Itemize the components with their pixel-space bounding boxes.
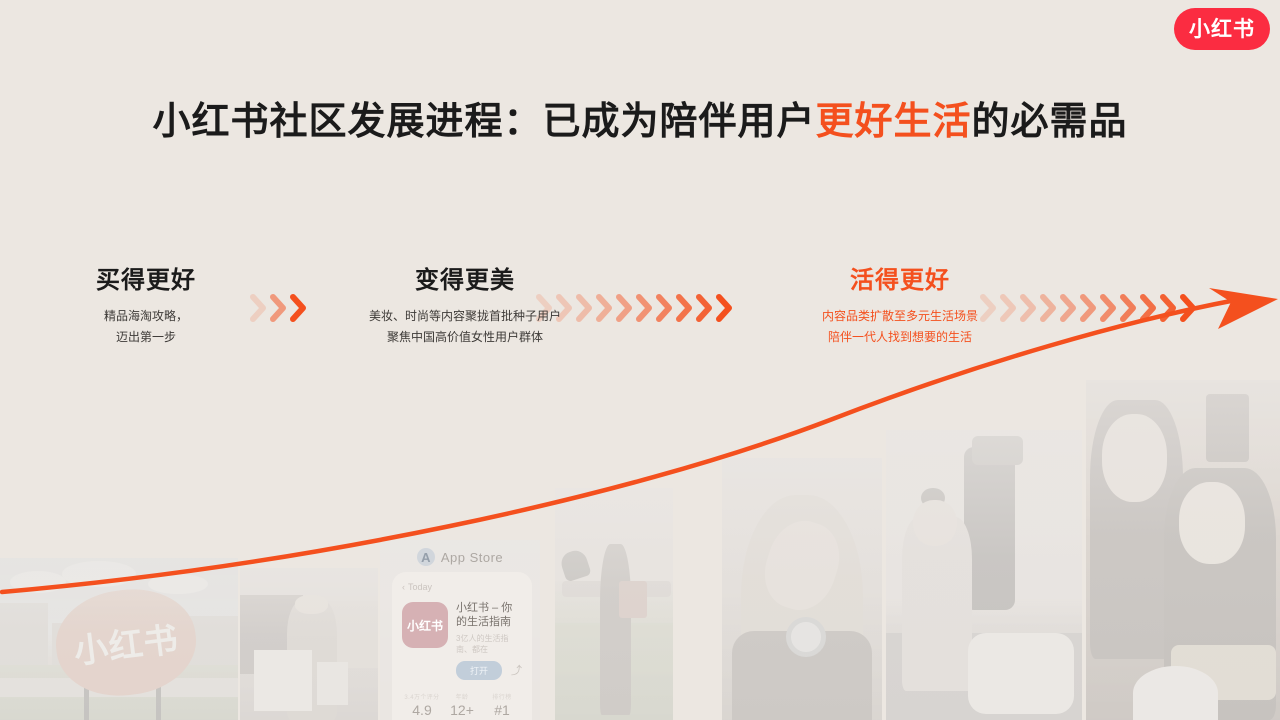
app-icon-text: 小红书	[407, 617, 443, 634]
photo-street-shopping	[240, 568, 378, 720]
chevron-right-icon	[1098, 293, 1120, 323]
app-store-label: App Store	[441, 550, 503, 565]
stage-2-title: 变得更美	[325, 268, 605, 294]
app-store-back-today[interactable]: ‹ Today	[402, 582, 522, 592]
app-stat-caption: 3.4万个评分	[402, 692, 442, 701]
chevron-right-icon	[1138, 293, 1160, 323]
app-stat-rank: 排行榜 #1 购物	[482, 692, 522, 720]
app-store-back-label: Today	[408, 582, 432, 592]
xiaohongshu-logo: 小红书	[1174, 8, 1270, 50]
app-open-button[interactable]: 打开	[456, 661, 502, 680]
chevron-right-icon	[1078, 293, 1100, 323]
app-stat-caption: 排行榜	[482, 692, 522, 701]
app-stat-value: 12+	[442, 702, 482, 718]
photo-headphones-laughing	[722, 458, 882, 720]
stage-1-description: 精品海淘攻略， 迈出第一步	[46, 306, 246, 347]
app-stat-rating: 3.4万个评分 4.9 ★★★★★	[402, 692, 442, 720]
app-name: 小红书 – 你的生活指南	[456, 602, 522, 630]
chevron-right-icon	[1118, 293, 1140, 323]
app-stats-row: 3.4万个评分 4.9 ★★★★★ 年龄 12+ 岁 排行榜 #1 购物	[402, 692, 522, 720]
page-title-highlight: 更好生活	[815, 101, 971, 143]
chevron-left-icon: ‹	[402, 582, 405, 592]
app-store-icon: A	[417, 548, 435, 566]
page-title-part-1: 小红书社区发展进程：已成为陪伴用户	[152, 101, 815, 143]
app-stat-caption: 年龄	[442, 692, 482, 701]
photo-party-selfie	[1086, 380, 1280, 720]
photo-billboard-xiaohongshu: 小红书	[0, 558, 238, 720]
page-title: 小红书社区发展进程：已成为陪伴用户更好生活的必需品	[0, 100, 1280, 146]
chevron-right-icon	[694, 293, 716, 323]
chevron-right-icon	[634, 293, 656, 323]
stage-2-become-prettier: 变得更美 美妆、时尚等内容聚拢首批种子用户 聚焦中国高价值女性用户群体	[325, 268, 605, 347]
xiaohongshu-logo-text: 小红书	[1189, 19, 1255, 40]
stage-1-desc-line-1: 精品海淘攻略，	[46, 306, 246, 326]
app-store-header: A App Store	[380, 548, 540, 566]
stage-3-title: 活得更好	[760, 268, 1040, 294]
stage-2-description: 美妆、时尚等内容聚拢首批种子用户 聚焦中国高价值女性用户群体	[325, 306, 605, 347]
chevron-right-icon	[674, 293, 696, 323]
photo-field-hat-throw	[555, 488, 673, 720]
stage-3-desc-line-2: 陪伴一代人找到想要的生活	[760, 327, 1040, 347]
chevron-right-icon	[248, 293, 270, 323]
stage-1-desc-line-2: 迈出第一步	[46, 327, 246, 347]
chevron-right-icon	[1038, 293, 1060, 323]
chevron-right-icon	[1058, 293, 1080, 323]
photo-collage-strip: 小红书 A App Store ‹ Tod	[0, 300, 1280, 720]
stage-2-desc-line-1: 美妆、时尚等内容聚拢首批种子用户	[325, 306, 605, 326]
stage-2-desc-line-2: 聚焦中国高价值女性用户群体	[325, 327, 605, 347]
stage-3-live-better: 活得更好 内容品类扩散至多元生活场景 陪伴一代人找到想要的生活	[760, 268, 1040, 347]
chevron-right-icon	[1158, 293, 1180, 323]
app-icon-xiaohongshu: 小红书	[402, 602, 448, 648]
chevron-right-icon	[1178, 293, 1200, 323]
app-stat-value: #1	[482, 702, 522, 718]
app-stat-value: 4.9	[402, 702, 442, 718]
chevron-right-icon	[288, 293, 310, 323]
chevron-right-icon	[654, 293, 676, 323]
chevron-right-icon	[614, 293, 636, 323]
chevron-group-1	[248, 293, 308, 323]
app-store-card: ‹ Today 小红书 小红书 – 你的生活指南 3亿人的生活指南、都在 打开 …	[392, 572, 532, 720]
stage-3-description: 内容品类扩散至多元生活场景 陪伴一代人找到想要的生活	[760, 306, 1040, 347]
photo-friends-on-floor	[886, 430, 1082, 720]
stage-3-desc-line-1: 内容品类扩散至多元生活场景	[760, 306, 1040, 326]
photo-app-store-listing: A App Store ‹ Today 小红书 小红书 – 你的生活指南 3亿人…	[380, 540, 540, 720]
chevron-right-icon	[714, 293, 736, 323]
share-icon[interactable]: ⤴	[511, 662, 522, 678]
app-stat-age: 年龄 12+ 岁	[442, 692, 482, 720]
chevron-right-icon	[268, 293, 290, 323]
stage-1-title: 买得更好	[46, 268, 246, 294]
page-title-part-2: 的必需品	[972, 101, 1128, 143]
slide-canvas: 小红书 A App Store ‹ Tod	[0, 0, 1280, 720]
stage-1-buy-better: 买得更好 精品海淘攻略， 迈出第一步	[46, 268, 246, 347]
app-subtitle: 3亿人的生活指南、都在	[456, 633, 522, 655]
